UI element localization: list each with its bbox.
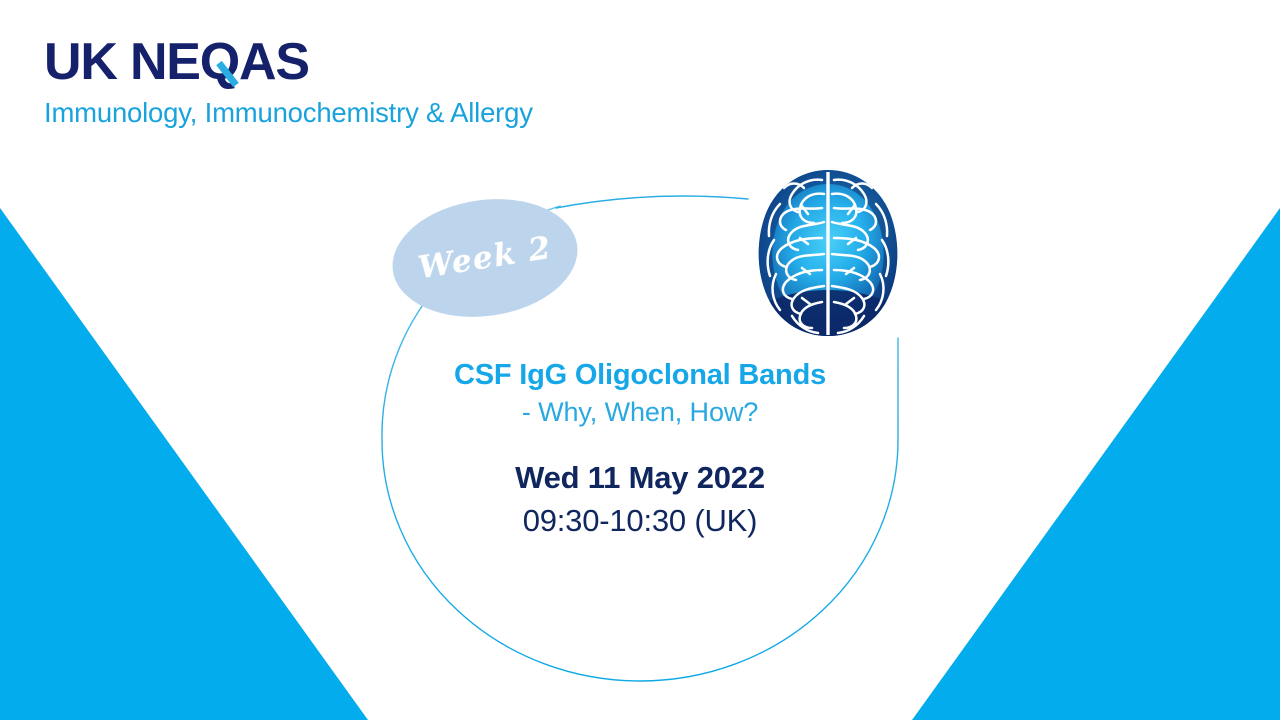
brand-logo: UK NEQAS Immunology, Immunochemistry & A…: [44, 33, 684, 129]
week-badge: Week 2: [392, 200, 578, 316]
uk-neqas-wordmark: UK NEQAS: [44, 33, 344, 91]
brand-tagline: Immunology, Immunochemistry & Allergy: [44, 97, 684, 129]
talk-date: Wed 11 May 2022: [340, 459, 940, 496]
week-badge-label: Week 2: [384, 186, 586, 330]
talk-title: CSF IgG Oligoclonal Bands: [340, 358, 940, 392]
webinar-slide: UK NEQAS Immunology, Immunochemistry & A…: [0, 0, 1280, 720]
brain-icon: [752, 168, 904, 338]
svg-text:UK NEQAS: UK NEQAS: [44, 33, 309, 91]
talk-subtitle: - Why, When, How?: [340, 397, 940, 429]
talk-details: CSF IgG Oligoclonal Bands - Why, When, H…: [340, 358, 940, 539]
talk-time: 09:30-10:30 (UK): [340, 502, 940, 539]
